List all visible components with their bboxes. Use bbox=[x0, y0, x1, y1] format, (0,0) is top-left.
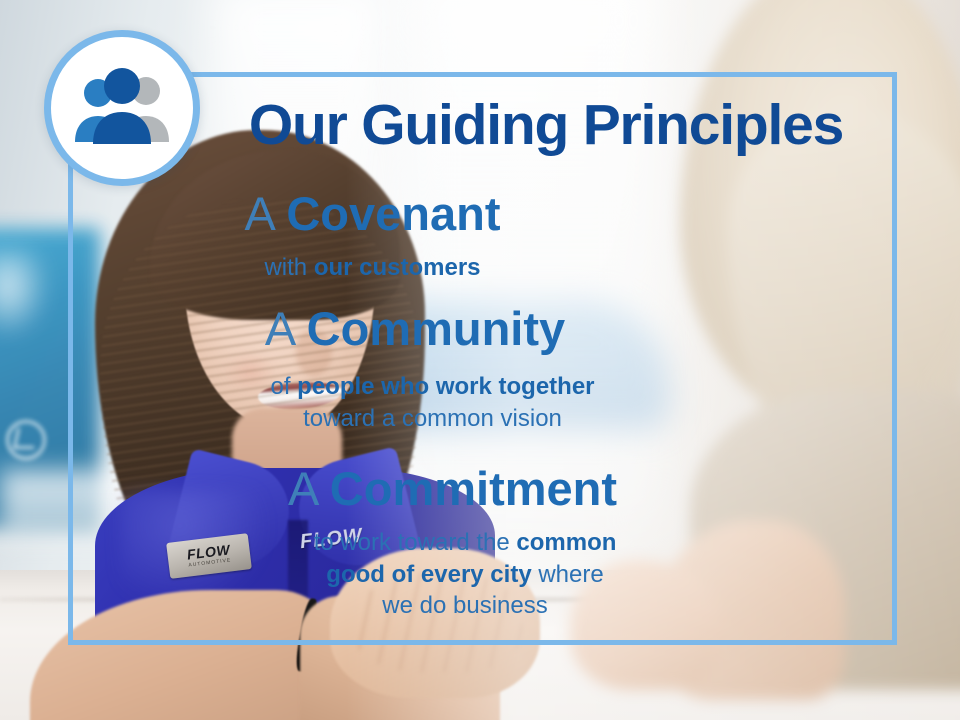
page-title: Our Guiding Principles bbox=[216, 96, 876, 156]
customer-hand bbox=[570, 560, 720, 690]
people-group-icon bbox=[69, 68, 175, 148]
people-group-badge bbox=[44, 30, 200, 186]
guiding-principles-banner: FLOW AUTOMOTIVE FLOW Our Guiding bbox=[0, 0, 960, 720]
employee-left-forearm bbox=[30, 590, 330, 720]
employee-fingers bbox=[352, 572, 522, 672]
